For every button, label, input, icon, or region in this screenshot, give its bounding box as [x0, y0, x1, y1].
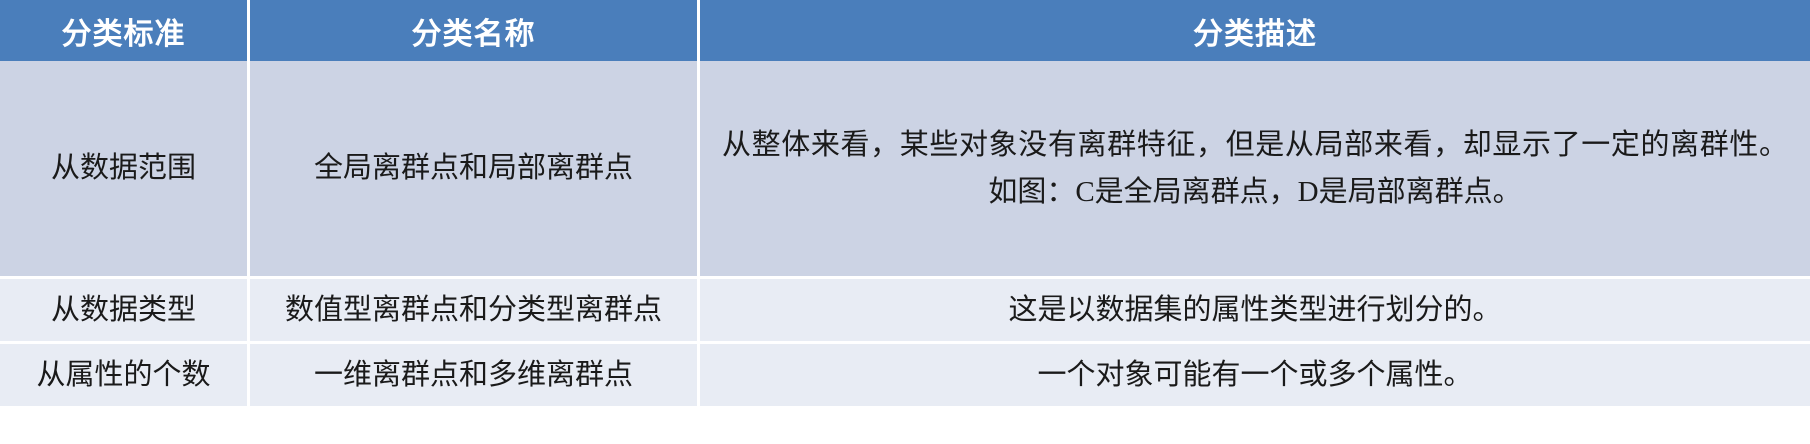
- table-row: 从数据范围 全局离群点和局部离群点 从整体来看，某些对象没有离群特征，但是从局部…: [0, 61, 1810, 279]
- cell-name: 数值型离群点和分类型离群点: [250, 279, 700, 344]
- cell-name: 全局离群点和局部离群点: [250, 61, 700, 279]
- cell-criterion: 从数据类型: [0, 279, 250, 344]
- cell-name: 一维离群点和多维离群点: [250, 344, 700, 409]
- column-header-description: 分类描述: [700, 0, 1810, 61]
- classification-table: 分类标准 分类名称 分类描述 从数据范围 全局离群点和局部离群点 从整体来看，某…: [0, 0, 1810, 409]
- header-row: 分类标准 分类名称 分类描述: [0, 0, 1810, 61]
- column-header-criterion: 分类标准: [0, 0, 250, 61]
- cell-description: 一个对象可能有一个或多个属性。: [700, 344, 1810, 409]
- table-body: 从数据范围 全局离群点和局部离群点 从整体来看，某些对象没有离群特征，但是从局部…: [0, 61, 1810, 409]
- cell-criterion: 从属性的个数: [0, 344, 250, 409]
- cell-description: 这是以数据集的属性类型进行划分的。: [700, 279, 1810, 344]
- classification-table-container: 分类标准 分类名称 分类描述 从数据范围 全局离群点和局部离群点 从整体来看，某…: [0, 0, 1810, 444]
- table-header: 分类标准 分类名称 分类描述: [0, 0, 1810, 61]
- column-header-name: 分类名称: [250, 0, 700, 61]
- cell-description: 从整体来看，某些对象没有离群特征，但是从局部来看，却显示了一定的离群性。如图：C…: [700, 61, 1810, 279]
- table-row: 从属性的个数 一维离群点和多维离群点 一个对象可能有一个或多个属性。: [0, 344, 1810, 409]
- table-row: 从数据类型 数值型离群点和分类型离群点 这是以数据集的属性类型进行划分的。: [0, 279, 1810, 344]
- cell-criterion: 从数据范围: [0, 61, 250, 279]
